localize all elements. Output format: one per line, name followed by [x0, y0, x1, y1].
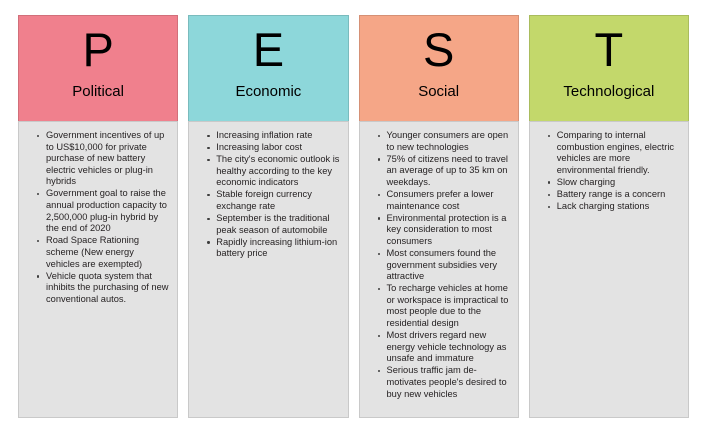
bullet-item: Consumers prefer a lower maintenance cos…	[378, 189, 510, 212]
bullet-item: Road Space Rationing scheme (New energy …	[37, 235, 169, 270]
pest-analysis-board: PPoliticalGovernment incentives of up to…	[18, 15, 689, 418]
bullet-item: Slow charging	[548, 177, 680, 189]
bullet-list: Government incentives of up to US$10,000…	[23, 130, 171, 305]
column-title: Political	[72, 83, 124, 100]
bullet-item: Battery range is a concern	[548, 189, 680, 201]
bullet-item: Lack charging stations	[548, 201, 680, 213]
column-header-political: PPolitical	[18, 15, 178, 121]
column-header-technological: TTechnological	[529, 15, 689, 121]
bullet-item: Stable foreign currency exchange rate	[207, 189, 339, 212]
bullet-item: Government goal to raise the annual prod…	[37, 188, 169, 234]
bullet-list: Comparing to internal combustion engines…	[534, 130, 682, 213]
bullet-list: Younger consumers are open to new techno…	[364, 130, 512, 400]
bullet-item: Environmental protection is a key consid…	[378, 213, 510, 248]
column-letter: T	[595, 26, 624, 73]
bullet-item: Increasing inflation rate	[207, 130, 339, 142]
column-header-economic: EEconomic	[188, 15, 348, 121]
bullet-item: Increasing labor cost	[207, 142, 339, 154]
bullet-item: Most drivers regard new energy vehicle t…	[378, 330, 510, 365]
bullet-item: 75% of citizens need to travel an averag…	[378, 154, 510, 189]
column-letter: E	[253, 26, 284, 73]
bullet-item: The city's economic outlook is healthy a…	[207, 154, 339, 189]
bullet-item: Serious traffic jam de-motivates people'…	[378, 365, 510, 400]
column-header-social: SSocial	[359, 15, 519, 121]
bullet-item: Comparing to internal combustion engines…	[548, 130, 680, 176]
column-body-economic: Increasing inflation rateIncreasing labo…	[188, 121, 348, 418]
bullet-item: September is the traditional peak season…	[207, 213, 339, 236]
bullet-item: Most consumers found the government subs…	[378, 248, 510, 283]
column-title: Social	[418, 83, 459, 100]
pest-column-political: PPoliticalGovernment incentives of up to…	[18, 15, 178, 418]
column-title: Economic	[235, 83, 301, 100]
bullet-item: Government incentives of up to US$10,000…	[37, 130, 169, 188]
pest-column-technological: TTechnologicalComparing to internal comb…	[529, 15, 689, 418]
column-body-political: Government incentives of up to US$10,000…	[18, 121, 178, 418]
column-title: Technological	[563, 83, 654, 100]
bullet-item: To recharge vehicles at home or workspac…	[378, 283, 510, 329]
column-letter: P	[82, 26, 113, 73]
column-body-social: Younger consumers are open to new techno…	[359, 121, 519, 418]
column-letter: S	[423, 26, 454, 73]
bullet-item: Rapidly increasing lithium-ion battery p…	[207, 237, 339, 260]
bullet-item: Younger consumers are open to new techno…	[378, 130, 510, 153]
bullet-list: Increasing inflation rateIncreasing labo…	[193, 130, 341, 260]
pest-column-economic: EEconomicIncreasing inflation rateIncrea…	[188, 15, 348, 418]
pest-column-social: SSocialYounger consumers are open to new…	[359, 15, 519, 418]
bullet-item: Vehicle quota system that inhibits the p…	[37, 271, 169, 306]
column-body-technological: Comparing to internal combustion engines…	[529, 121, 689, 418]
